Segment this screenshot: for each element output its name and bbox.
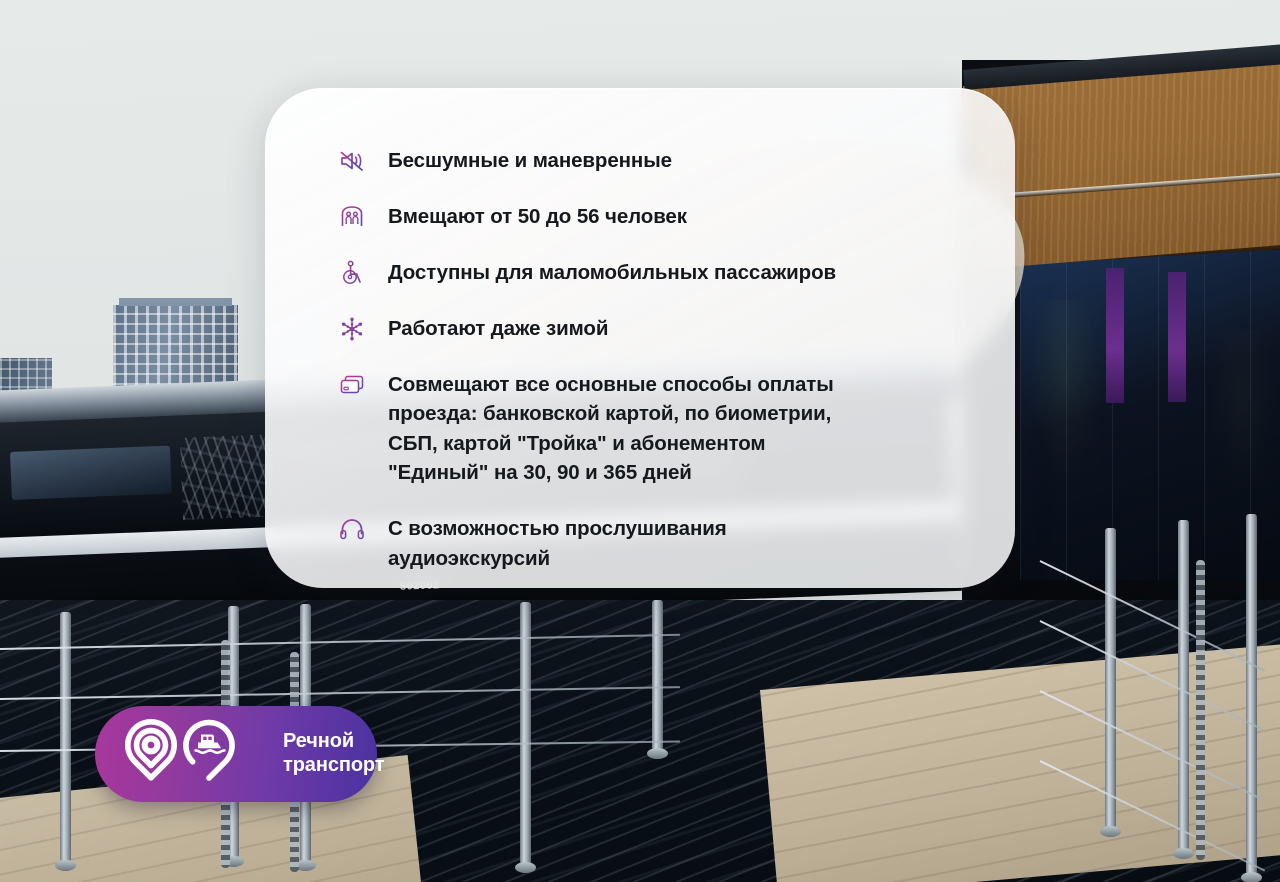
list-item-label: Работают даже зимой xyxy=(388,314,608,343)
muted-speaker-icon xyxy=(337,146,367,176)
list-item-label: Вмещают от 50 до 56 человек xyxy=(388,202,687,231)
list-item: Работают даже зимой xyxy=(337,314,975,344)
list-item-label: Доступны для маломобильных пассажиров xyxy=(388,258,836,287)
list-item: Бесшумные и маневренные xyxy=(337,146,975,176)
vessel-window xyxy=(10,446,172,500)
railing-post xyxy=(652,600,663,750)
list-item-label: С возможностью прослушивания аудиоэкскур… xyxy=(388,514,727,573)
mooring-chain xyxy=(1196,560,1205,860)
list-item: Доступны для маломобильных пассажиров xyxy=(337,258,975,288)
railing-post xyxy=(520,602,531,864)
pavilion-glass-facade xyxy=(1020,250,1280,580)
payment-cards-icon xyxy=(337,370,367,400)
river-transport-logo-badge[interactable]: Речной транспорт xyxy=(95,706,377,802)
list-item-label: Совмещают все основные способы оплаты пр… xyxy=(388,370,834,487)
railing-post xyxy=(1178,520,1189,850)
list-item: Вмещают от 50 до 56 человек xyxy=(337,202,975,232)
railing-post xyxy=(60,612,71,862)
railing-post xyxy=(1246,514,1257,874)
moscow-transport-pin-icon xyxy=(128,722,174,778)
list-item: Совмещают все основные способы оплаты пр… xyxy=(337,370,975,487)
snowflake-icon xyxy=(337,314,367,344)
feature-list: Бесшумные и маневренные xyxy=(337,146,975,573)
passenger-cabin-icon xyxy=(337,202,367,232)
logo-title: Речной транспорт xyxy=(283,730,384,777)
poster-stage: ЗИЛ 502002 xyxy=(0,0,1280,882)
pavilion-banner xyxy=(1168,272,1186,402)
railing-post xyxy=(1105,528,1116,828)
list-item-label: Бесшумные и маневренные xyxy=(388,146,672,175)
wheelchair-accessible-icon xyxy=(337,258,367,288)
list-item: С возможностью прослушивания аудиоэкскур… xyxy=(337,514,975,573)
river-boat-pin-icon xyxy=(186,722,232,778)
logo-marks xyxy=(117,717,267,791)
pavilion-banner xyxy=(1106,268,1124,403)
headphones-icon xyxy=(337,514,367,544)
info-card: Бесшумные и маневренные xyxy=(265,88,1015,588)
